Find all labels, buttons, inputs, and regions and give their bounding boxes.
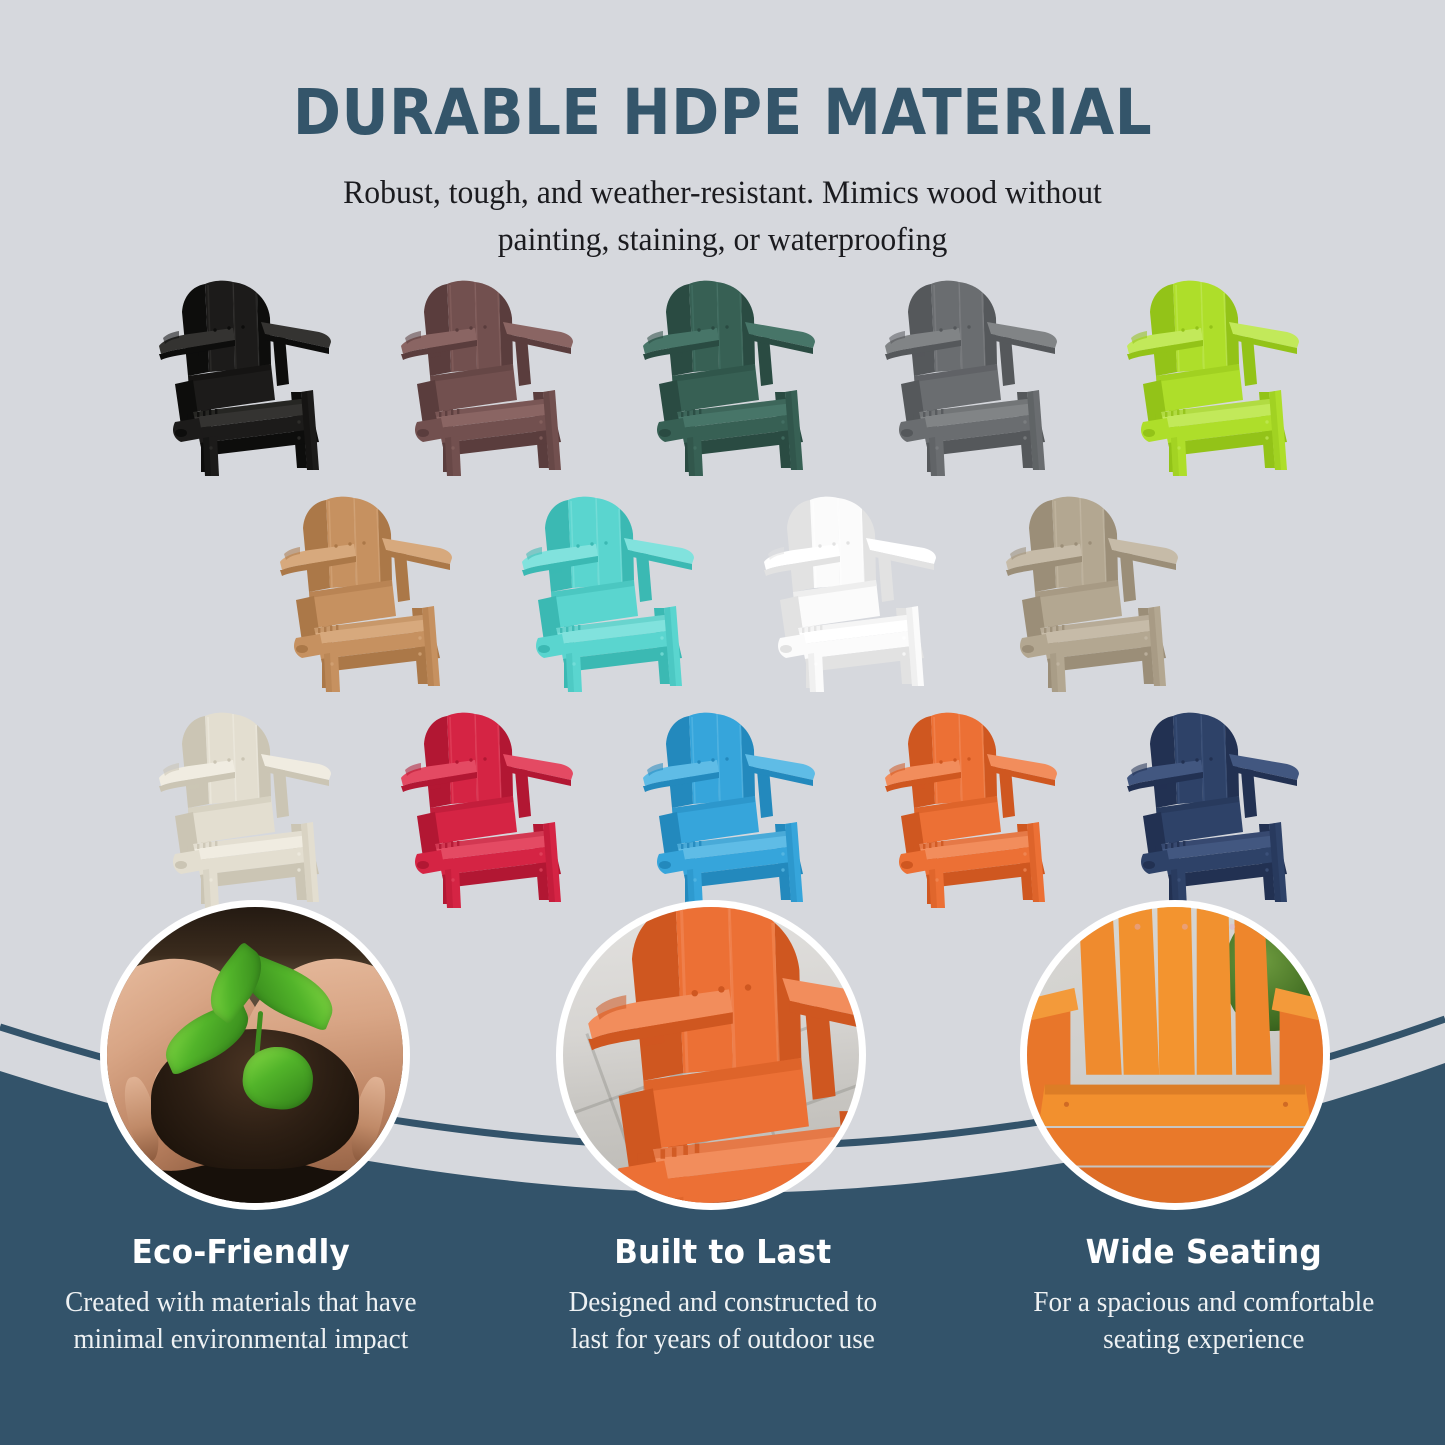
- chair-svg: [746, 488, 942, 696]
- chair-svg: [1109, 704, 1305, 912]
- page-title: DURABLE HDPE MATERIAL: [58, 0, 1387, 146]
- feature-caption-eco-friendly: Eco-Friendly Created with materials that…: [0, 1232, 482, 1359]
- desc-line-2: last for years of outdoor use: [571, 1324, 875, 1355]
- chair-swatch-ivory[interactable]: [141, 704, 337, 912]
- seat-closeup-svg: [1027, 907, 1323, 1203]
- infographic-stage: DURABLE HDPE MATERIAL Robust, tough, and…: [0, 0, 1445, 1445]
- chair-svg: [625, 272, 821, 480]
- feature-description: Designed and constructed to last for yea…: [489, 1285, 956, 1359]
- feature-description: For a spacious and comfortable seating e…: [971, 1285, 1438, 1359]
- header: DURABLE HDPE MATERIAL Robust, tough, and…: [0, 0, 1445, 264]
- chair-swatch-brown[interactable]: [383, 272, 579, 480]
- subtitle-line-1: Robust, tough, and weather-resistant. Mi…: [343, 175, 1102, 211]
- chair-swatch-navy-blue[interactable]: [1109, 704, 1305, 912]
- feature-circles: [0, 900, 1445, 1210]
- chair-svg: [1109, 272, 1305, 480]
- chair-swatch-teak[interactable]: [262, 488, 458, 696]
- desc-line-1: Created with materials that have: [65, 1287, 416, 1318]
- built-to-last-photo: [563, 907, 859, 1203]
- chair-swatch-gray[interactable]: [867, 272, 1063, 480]
- feature-caption-built-to-last: Built to Last Designed and constructed t…: [482, 1232, 964, 1359]
- feature-title: Wide Seating: [978, 1232, 1431, 1271]
- chair-svg: [504, 488, 700, 696]
- chair-color-grid: [0, 272, 1445, 912]
- chair-svg: [383, 704, 579, 912]
- wide-seating-photo: [1027, 907, 1323, 1203]
- chair-svg: [262, 488, 458, 696]
- chair-swatch-dark-green[interactable]: [625, 272, 821, 480]
- desc-line-1: Designed and constructed to: [568, 1287, 876, 1318]
- chair-swatch-red[interactable]: [383, 704, 579, 912]
- feature-image-wide-seating: [1020, 900, 1330, 1210]
- feature-title: Eco-Friendly: [14, 1232, 467, 1271]
- chair-row-1: [0, 272, 1445, 480]
- chair-svg: [625, 704, 821, 912]
- chair-svg: [383, 272, 579, 480]
- chair-svg: [867, 704, 1063, 912]
- feature-description: Created with materials that have minimal…: [7, 1285, 474, 1359]
- chair-row-3: [0, 704, 1445, 912]
- chair-swatch-light-blue[interactable]: [625, 704, 821, 912]
- feature-image-eco-friendly: [100, 900, 410, 1210]
- seat-closeup-render: [1027, 907, 1323, 1203]
- chair-swatch-lime-green[interactable]: [1109, 272, 1305, 480]
- chair-row-2: [0, 488, 1445, 696]
- chair-swatch-white[interactable]: [746, 488, 942, 696]
- eco-friendly-photo: [107, 907, 403, 1203]
- chair-swatch-turquoise[interactable]: [504, 488, 700, 696]
- chair-svg: [141, 704, 337, 912]
- chair-swatch-black[interactable]: [141, 272, 337, 480]
- feature-title: Built to Last: [496, 1232, 949, 1271]
- orange-chair-render: [563, 907, 859, 1203]
- desc-line-2: minimal environmental impact: [73, 1324, 408, 1355]
- chair-svg: [988, 488, 1184, 696]
- chair-svg: [141, 272, 337, 480]
- page-subtitle: Robust, tough, and weather-resistant. Mi…: [29, 146, 1416, 264]
- desc-line-2: seating experience: [1104, 1324, 1305, 1355]
- feature-captions: Eco-Friendly Created with materials that…: [0, 1232, 1445, 1359]
- chair-svg: [867, 272, 1063, 480]
- feature-caption-wide-seating: Wide Seating For a spacious and comforta…: [963, 1232, 1445, 1359]
- feature-image-built-to-last: [556, 900, 866, 1210]
- desc-line-1: For a spacious and comfortable: [1034, 1287, 1375, 1318]
- chair-swatch-taupe[interactable]: [988, 488, 1184, 696]
- subtitle-line-2: painting, staining, or waterproofing: [498, 222, 948, 258]
- chair-swatch-orange[interactable]: [867, 704, 1063, 912]
